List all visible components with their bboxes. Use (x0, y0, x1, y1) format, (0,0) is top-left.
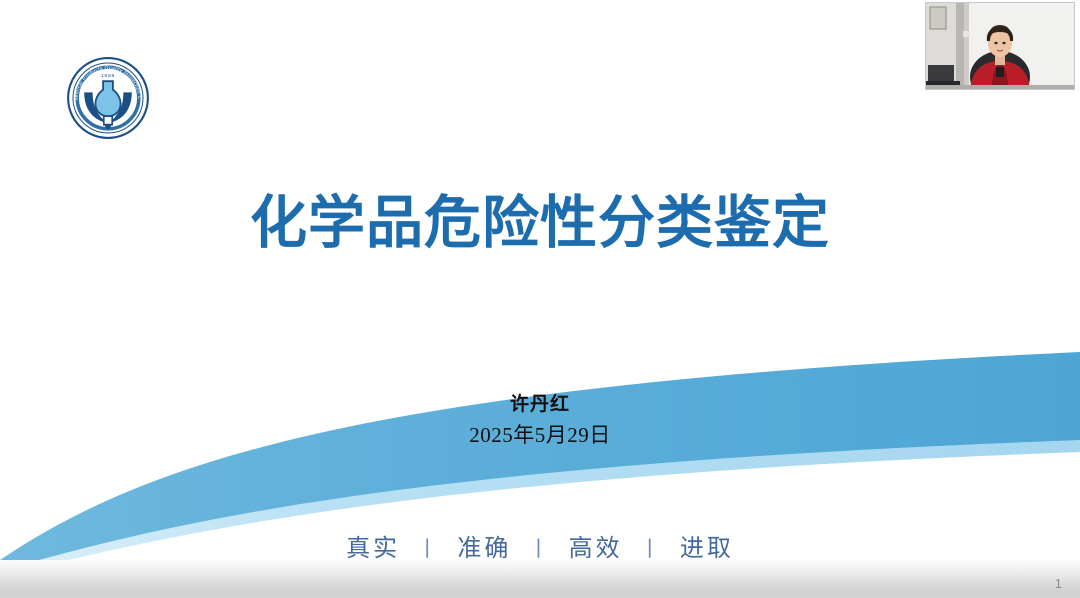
presenter-date: 2025年5月29日 (0, 422, 1080, 449)
video-frame (926, 3, 1074, 89)
presenter-name: 许丹红 (0, 392, 1080, 418)
presentation-slide: Chemical Products Quality Inspection Co.… (0, 0, 1080, 598)
slide-title: 化学品危险性分类鉴定 (0, 192, 1080, 256)
tagline-item-4: 进取 (680, 534, 734, 562)
company-logo: Chemical Products Quality Inspection Co.… (66, 56, 150, 140)
tagline-separator: 丨 (411, 537, 447, 561)
presenter-video-feed[interactable] (925, 2, 1075, 90)
presenter-block: 许丹红 2025年5月29日 (0, 392, 1080, 449)
tagline-separator: 丨 (633, 537, 669, 561)
page-number: 1 (1055, 576, 1062, 591)
tagline-item-2: 准确 (457, 534, 511, 562)
slide-tagline: 真实 丨 准确 丨 高效 丨 进取 (0, 528, 1080, 563)
slide-footer-strip: 1 (0, 560, 1080, 598)
logo-year: 1988 (101, 73, 115, 79)
tagline-separator: 丨 (522, 537, 558, 561)
decorative-wave-graphic (0, 0, 1080, 598)
tagline-item-3: 高效 (569, 534, 623, 562)
tagline-item-1: 真实 (346, 534, 400, 562)
